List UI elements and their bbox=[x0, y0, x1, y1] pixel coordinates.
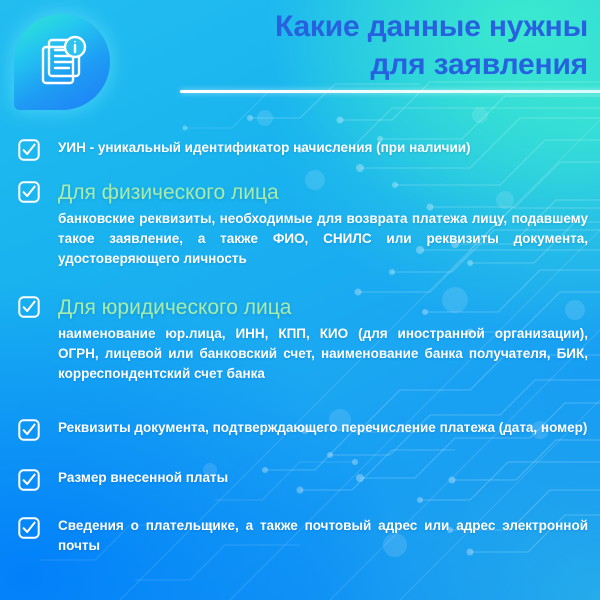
checkbox-checked-icon bbox=[18, 296, 40, 318]
list-item: Для юридического лица наименование юр.ли… bbox=[18, 295, 588, 384]
page-title: Какие данные нужны для заявления bbox=[158, 8, 588, 84]
list-item-text: Размер внесенной платы bbox=[58, 468, 588, 488]
group-body-text: наименование юр.лица, ИНН, КПП, КИО (для… bbox=[58, 324, 588, 384]
poster-header: Какие данные нужны для заявления bbox=[0, 0, 600, 112]
header-divider bbox=[180, 90, 600, 93]
list-item-text: Реквизиты документа, подтверждающего пер… bbox=[58, 418, 588, 438]
list-item-text: Сведения о плательщике, а также почтовый… bbox=[58, 516, 588, 556]
document-info-icon bbox=[14, 14, 110, 110]
list-item-text: УИН - уникальный идентификатор начислени… bbox=[58, 138, 588, 158]
checklist: УИН - уникальный идентификатор начислени… bbox=[18, 138, 588, 572]
title-line-1: Какие данные нужны bbox=[158, 8, 588, 46]
group-heading: Для юридического лица bbox=[58, 295, 588, 321]
list-item: Размер внесенной платы bbox=[18, 468, 588, 488]
infographic-poster: Какие данные нужны для заявления УИН - у… bbox=[0, 0, 600, 600]
checkbox-checked-icon bbox=[18, 469, 40, 491]
checkbox-checked-icon bbox=[18, 139, 40, 161]
list-item: Сведения о плательщике, а также почтовый… bbox=[18, 516, 588, 556]
list-item: УИН - уникальный идентификатор начислени… bbox=[18, 138, 588, 158]
checkbox-checked-icon bbox=[18, 517, 40, 539]
checkbox-checked-icon bbox=[18, 181, 40, 203]
title-line-2: для заявления bbox=[158, 46, 588, 84]
checkbox-checked-icon bbox=[18, 419, 40, 441]
group-body-text: банковские реквизиты, необходимые для во… bbox=[58, 209, 588, 269]
list-item: Реквизиты документа, подтверждающего пер… bbox=[18, 418, 588, 438]
list-item: Для физического лица банковские реквизит… bbox=[18, 180, 588, 269]
group-heading: Для физического лица bbox=[58, 180, 588, 206]
